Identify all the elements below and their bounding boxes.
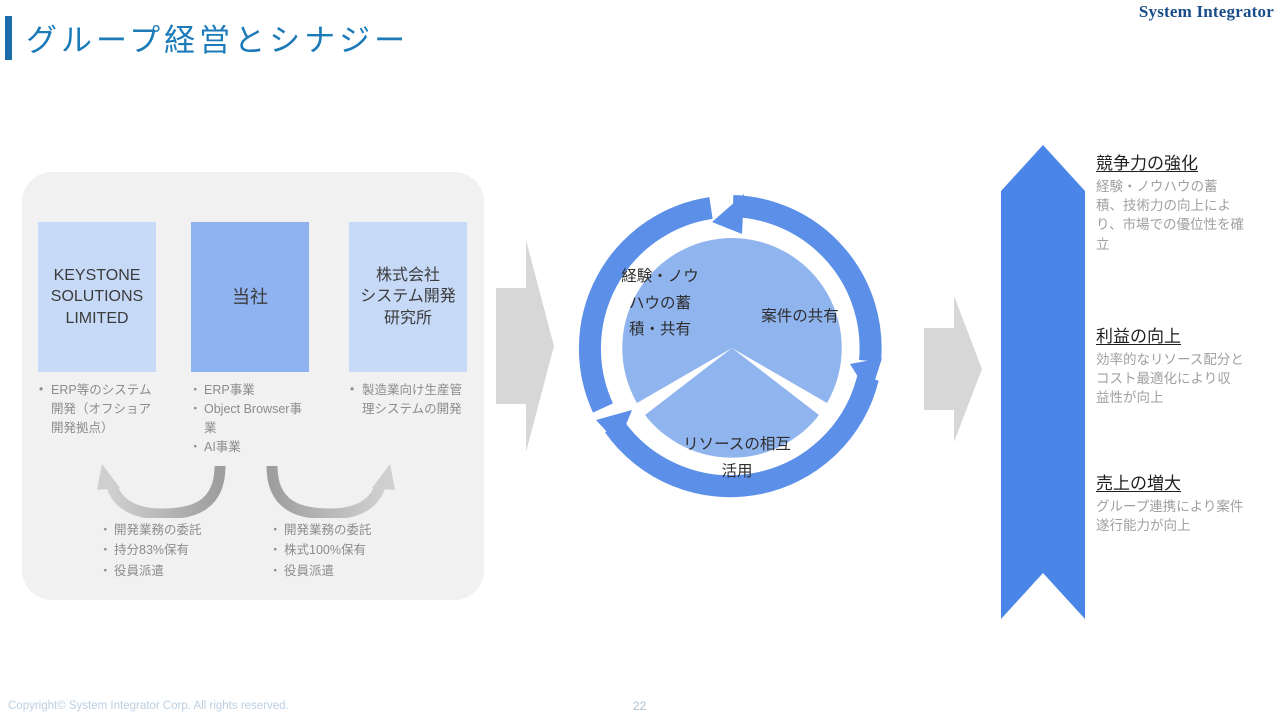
cycle-segment-label-0: 経験・ノウ ハウの蓄 積・共有 (600, 264, 720, 344)
curved-arrow-left-icon (94, 462, 230, 518)
list-item: ERP等のシステム開発（オフショア開発拠点） (38, 381, 156, 438)
page-title: グループ経営とシナジー (26, 15, 409, 60)
list-item: 開発業務の委託 (272, 520, 372, 540)
outcomes-section: 競争力の強化 経験・ノウハウの蓄積、技術力の向上により、市場での優位性を確立 利… (1000, 143, 1280, 621)
outcome-heading: 売上の増大 (1096, 473, 1244, 495)
company-name-box: KEYSTONE SOLUTIONS LIMITED (38, 222, 156, 372)
outcome-item-1: 利益の向上 効率的なリソース配分とコスト最適化により収益性が向上 (1096, 326, 1244, 408)
slide-canvas: グループ経営とシナジー System Integrator KEYSTONE S… (0, 0, 1280, 720)
outcome-heading: 利益の向上 (1096, 326, 1244, 348)
chevron-up-stack-icon (1000, 143, 1086, 621)
list-item: ERP事業 (191, 381, 309, 400)
footer-page-number: 22 (633, 699, 646, 713)
connector-arrow-right-icon-1 (496, 232, 556, 460)
outcome-item-2: 売上の増大 グループ連携により案件遂行能力が向上 (1096, 473, 1244, 535)
cycle-segment-label-1: 案件の共有 (738, 304, 862, 331)
list-item: AI事業 (191, 438, 309, 457)
outcome-body: 経験・ノウハウの蓄積、技術力の向上により、市場での優位性を確立 (1096, 177, 1244, 254)
outcome-body: 効率的なリソース配分とコスト最適化により収益性が向上 (1096, 350, 1244, 407)
company-column-sid: 株式会社 システム開発 研究所 製造業向け生産管理システムの開発 (349, 222, 467, 419)
relation-notes-right: 開発業務の委託 株式100%保有 役員派遣 (272, 520, 372, 581)
company-bullets: ERP事業 Object Browser事業 AI事業 (191, 381, 309, 457)
cycle-segment-label-2: リソースの相互 活用 (652, 432, 822, 485)
outcome-body: グループ連携により案件遂行能力が向上 (1096, 497, 1244, 535)
company-column-jisha: 当社 ERP事業 Object Browser事業 AI事業 (191, 222, 309, 457)
relation-notes-left: 開発業務の委託 持分83%保有 役員派遣 (102, 520, 202, 581)
company-name-box: 当社 (191, 222, 309, 372)
group-structure-panel: KEYSTONE SOLUTIONS LIMITED ERP等のシステム開発（オ… (22, 172, 484, 600)
outcome-heading: 競争力の強化 (1096, 153, 1244, 175)
curved-arrow-right-icon (262, 462, 398, 518)
company-name-box: 株式会社 システム開発 研究所 (349, 222, 467, 372)
connector-arrow-right-icon-2 (924, 290, 984, 448)
list-item: Object Browser事業 (191, 400, 309, 438)
list-item: 製造業向け生産管理システムの開発 (349, 381, 467, 419)
synergy-cycle-diagram: 経験・ノウ ハウの蓄 積・共有 案件の共有 リソースの相互 活用 (552, 192, 912, 509)
company-column-keystone: KEYSTONE SOLUTIONS LIMITED ERP等のシステム開発（オ… (38, 222, 156, 438)
outcome-item-0: 競争力の強化 経験・ノウハウの蓄積、技術力の向上により、市場での優位性を確立 (1096, 153, 1244, 254)
list-item: 持分83%保有 (102, 540, 202, 560)
list-item: 株式100%保有 (272, 540, 372, 560)
title-accent-bar (5, 16, 12, 60)
company-bullets: ERP等のシステム開発（オフショア開発拠点） (38, 381, 156, 438)
brand-logo: System Integrator (1139, 2, 1274, 22)
footer-copyright: Copyright© System Integrator Corp. All r… (8, 700, 289, 712)
list-item: 開発業務の委託 (102, 520, 202, 540)
list-item: 役員派遣 (102, 561, 202, 581)
list-item: 役員派遣 (272, 561, 372, 581)
company-bullets: 製造業向け生産管理システムの開発 (349, 381, 467, 419)
